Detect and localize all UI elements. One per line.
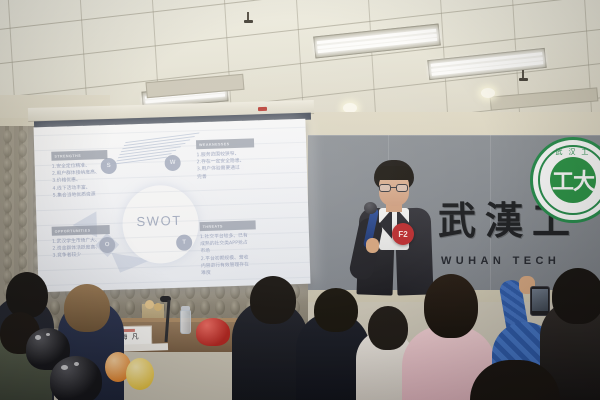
red-helmet	[196, 318, 230, 346]
flower-bloom-1	[145, 300, 154, 309]
downlight-2	[481, 88, 495, 98]
panel-line: 难度	[201, 268, 257, 277]
backdrop-title-english: WUHAN TECH	[441, 255, 560, 267]
panel-header-opportunities: OPPORTUNITIES	[52, 225, 110, 236]
eyeglasses-bridge	[391, 187, 396, 188]
node-t-letter: T	[182, 240, 186, 246]
audience-head-right-edge	[552, 268, 600, 324]
audience-head-pink-jacket	[424, 274, 478, 338]
yellow-balloon	[126, 358, 154, 390]
node-w-marker: W	[164, 155, 180, 171]
sprinkler-head-3	[519, 70, 528, 82]
smartphone-screen	[532, 289, 548, 311]
audience-head-blonde	[64, 284, 110, 332]
projection-screen: SWOT S W O T STRENGTHS 1.安全定位精准、 2.用户群体接…	[33, 119, 310, 292]
helmet-highlight	[46, 333, 50, 336]
flower-bloom-2	[154, 303, 162, 311]
presenter: F2	[352, 160, 438, 295]
panel-header-strengths: STRENGTHS	[51, 150, 107, 161]
presenter-fringe	[375, 166, 413, 180]
audience-head-white-hood	[368, 306, 408, 350]
motorcycle-helmet-2	[50, 356, 102, 400]
presentation-photo: 武漢工 WUHAN TECH 武 汉 工 工大 SWOT S W O T	[0, 0, 600, 400]
helmet-highlight	[35, 335, 41, 340]
water-bottle	[180, 310, 191, 334]
helmet-highlight	[61, 365, 68, 370]
seal-center-glyph: 工大	[533, 140, 600, 220]
audience-head-center-dark	[250, 276, 296, 324]
contestant-number-badge: F2	[392, 223, 414, 245]
eyeglasses-left-lens	[379, 184, 391, 192]
university-seal-logo: 武 汉 工 工大	[530, 137, 600, 223]
panel-header-threats: THREATS	[200, 220, 256, 231]
valance-red-marker	[258, 107, 267, 111]
helmet-highlight	[74, 362, 79, 366]
eyeglasses-right-lens	[396, 184, 408, 192]
presenter-hand	[366, 238, 379, 253]
sprinkler-head-1	[244, 12, 253, 24]
audience-head-navy	[314, 288, 358, 332]
audience-head-far-left	[6, 272, 48, 318]
